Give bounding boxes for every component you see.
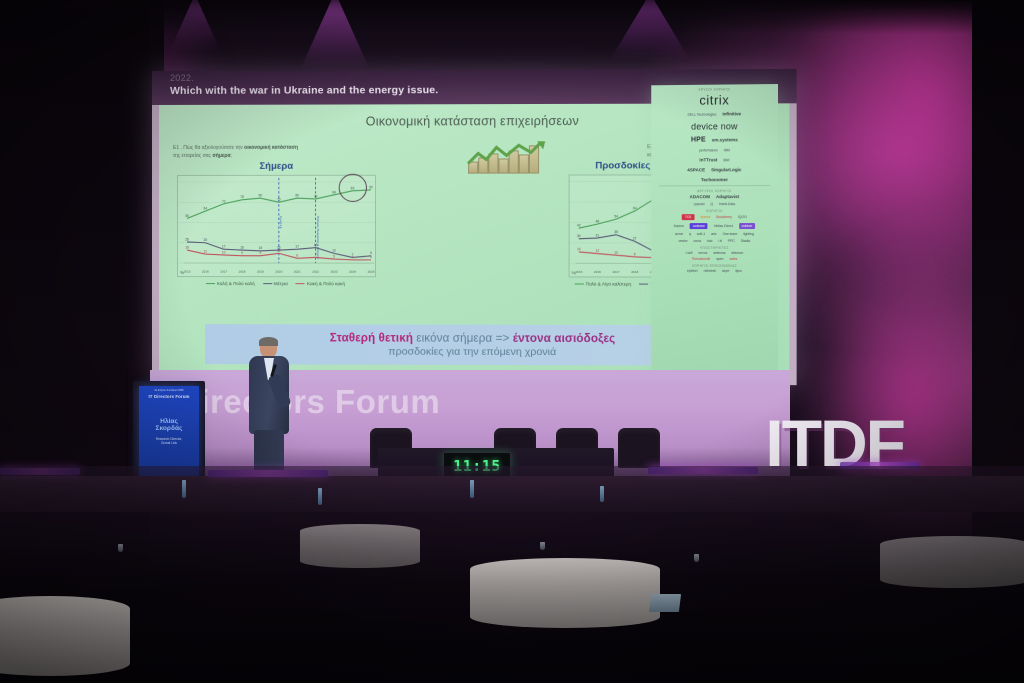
podium-display: 3o Ετήσιο Συνέδριο ICBS IT Directors For… (139, 386, 199, 478)
sponsor-logo-q2: q (689, 232, 691, 236)
svg-text:90: 90 (369, 185, 373, 189)
svg-text:30: 30 (577, 234, 581, 238)
slide-header-cut-text: 2022. (170, 72, 797, 82)
sponsor-logo-nexus: nexus (698, 250, 707, 254)
sponsor-logo-itpro: itpro (735, 268, 742, 272)
svg-text:14: 14 (577, 247, 581, 251)
svg-text:27: 27 (633, 237, 637, 241)
svg-text:2022: 2022 (312, 270, 319, 274)
svg-text:17: 17 (295, 245, 299, 249)
sponsor-logo-q: Q (710, 202, 713, 206)
svg-text:19: 19 (314, 243, 318, 247)
sponsor-logo-lighting: lighting (743, 232, 754, 236)
speaker-hair (259, 337, 278, 346)
sponsor-logo-ibm-1: IBM (724, 148, 730, 152)
svg-text:26: 26 (185, 237, 189, 241)
svg-text:2015: 2015 (184, 270, 191, 274)
attendee-laptop (649, 594, 681, 612)
sponsor-logo-devicenow: device now (691, 121, 738, 131)
conclusion-mid: εικόνα σήμερα => (416, 332, 509, 344)
svg-text:4: 4 (370, 255, 372, 259)
drinking-glass (540, 542, 545, 550)
chart-today-legend: Καλή & Πολύ καλή Μέτρια Κακή & Πολύ κακή (177, 281, 374, 286)
svg-text:73: 73 (222, 199, 226, 203)
sponsor-logo-dell: DELL Technologies (688, 112, 717, 116)
sponsor-logo-ppc: PPC (728, 239, 735, 243)
svg-text:5: 5 (333, 254, 335, 258)
sponsor-logo-sepe: sepe (722, 268, 729, 272)
water-bottle (318, 488, 322, 505)
lighting-truss (0, 0, 1024, 34)
svg-text:2025: 2025 (368, 270, 375, 274)
sponsor-logo-sales: sales (729, 256, 737, 260)
svg-text:64: 64 (633, 206, 637, 210)
svg-text:2023: 2023 (331, 270, 338, 274)
svg-text:15: 15 (259, 246, 263, 250)
podium-speaker-name: Ηλίας Σκορδάς (139, 418, 199, 433)
legend-item: Μέτρια (263, 281, 288, 286)
svg-text:7: 7 (315, 253, 317, 257)
sponsor-section-label-media: ΧΟΡΗΓΟΙ ΕΠΙΚΟΙΝΩΝΙΑΣ (651, 263, 778, 267)
banquet-table (300, 524, 420, 568)
svg-text:2019: 2019 (257, 270, 264, 274)
svg-text:55: 55 (185, 214, 189, 218)
podium-event-tag: 3o Ετήσιο Συνέδριο ICBS (139, 389, 199, 393)
water-bottle (600, 486, 604, 502)
svg-text:2016: 2016 (594, 270, 601, 274)
banquet-table (0, 596, 130, 676)
svg-text:2017: 2017 (613, 270, 620, 274)
svg-text:Covid-19: Covid-19 (279, 216, 283, 229)
svg-text:10: 10 (614, 251, 618, 255)
chart-today-highlight-circle (339, 174, 367, 202)
sponsor-logo-acme: acme (675, 232, 683, 236)
svg-text:2021: 2021 (294, 270, 301, 274)
svg-text:35: 35 (614, 230, 618, 234)
svg-text:2015: 2015 (575, 270, 582, 274)
sponsor-section-label-silver: ΑΡΓΥΡΟΙ ΧΟΡΗΓΟΙ (651, 189, 778, 193)
svg-text:75: 75 (277, 198, 281, 202)
water-bottle (182, 480, 186, 498)
svg-text:2016: 2016 (202, 270, 209, 274)
svg-text:54: 54 (614, 215, 618, 219)
svg-text:80: 80 (295, 193, 299, 197)
legend-item: Κακή & Πολύ κακή (296, 281, 345, 286)
sponsor-logo-kaizen: Kaizen (674, 224, 684, 228)
chart-expectations-ylabel: % (572, 270, 576, 275)
sponsor-logo-stadio: Stadio (741, 239, 751, 243)
sponsor-logo-intellidata: Intelli-Data (719, 202, 735, 206)
svg-text:17: 17 (222, 245, 226, 249)
sponsor-divider-1 (659, 185, 770, 186)
sponsor-logo-techonomer: Techonomer (701, 177, 728, 182)
legend-item: Καλή & Πολύ καλή (206, 281, 255, 286)
sponsor-logo-open: open (716, 256, 723, 260)
svg-text:79: 79 (314, 194, 318, 198)
conclusion-emph-1: Σταθερή (330, 332, 375, 344)
sponsor-logo-performance: performance (699, 148, 718, 152)
sponsor-section-label-bronze: ΧΟΡΗΓΟΙ (651, 209, 778, 213)
sponsor-logo-thessaloniki: Thessaloniki (691, 256, 710, 260)
svg-text:84: 84 (332, 190, 336, 194)
sponsor-logo-inttrust: InTTrust (699, 157, 717, 162)
svg-text:9: 9 (260, 251, 262, 255)
sponsor-logo-infinitive: infinitive (722, 111, 741, 116)
svg-text:10: 10 (222, 250, 226, 254)
backdrop-title-text: Directors Forum (176, 383, 440, 421)
sponsor-logo-4space: 4SPACE (687, 167, 705, 172)
conference-stage-photo: 2022. Which with the war in Ukraine and … (0, 0, 1024, 683)
podium-event-title: IT Directors Forum (139, 394, 199, 399)
sponsor-logo-epsilon: epsilon (687, 268, 698, 272)
sponsor-logo-hellasdirect: Hellas Direct (714, 224, 733, 228)
sponsor-logo-vector: vector (679, 239, 688, 243)
sponsor-logo-xperta: Xperta (700, 215, 710, 219)
svg-text:31: 31 (596, 233, 600, 237)
svg-text:12: 12 (596, 249, 600, 253)
banquet-table (880, 536, 1024, 588)
sponsor-logo-citrix: citrix (699, 92, 729, 107)
svg-text:80: 80 (259, 194, 263, 198)
svg-text:12: 12 (277, 249, 281, 253)
sponsor-logo-oneteam: One.team (723, 232, 738, 236)
drinking-glass (694, 554, 699, 562)
question-left-text: Ε1 . Πώς θα αξιολογούσατε την οικονομική… (173, 145, 298, 160)
svg-text:64: 64 (204, 207, 208, 211)
conclusion-line-2: προσδοκίες για την επόμενη χρονιά (388, 345, 556, 358)
svg-text:16: 16 (240, 245, 244, 249)
svg-text:2018: 2018 (239, 270, 246, 274)
sponsor-logo-aris: aris (711, 232, 716, 236)
svg-text:43: 43 (577, 224, 581, 228)
water-bottle (470, 480, 474, 498)
svg-text:25: 25 (204, 238, 208, 242)
sponsor-logo-adaptavist: Adaptavist (716, 194, 739, 199)
sponsor-logo-antenna: antenna (713, 250, 725, 254)
conclusion-emph-3: έντονα αισιόδοξες (513, 332, 615, 344)
svg-text:12: 12 (332, 249, 336, 253)
svg-text:48: 48 (596, 219, 600, 223)
svg-text:2018: 2018 (631, 270, 638, 274)
sponsor-logo-cytanet: cytanet (694, 202, 705, 206)
sponsor-logo-singularlogic: SingularLogic (711, 167, 741, 172)
chart-today: Σήμερα Covid-19Πόλεμος Ουκρανίας & Ενέργ… (177, 175, 376, 277)
audience-area (0, 466, 1024, 683)
svg-text:6: 6 (296, 254, 298, 258)
svg-text:9: 9 (241, 251, 243, 255)
banquet-table (470, 558, 660, 628)
conclusion-emph-2: θετική (379, 332, 413, 344)
sponsor-logo-nova: nova (694, 239, 701, 243)
sponsor-logo-isell: i-sell (686, 250, 693, 254)
sponsor-logo-hpe: HPE (691, 137, 706, 144)
sponsor-logo-tcs: TCS (682, 214, 694, 220)
growth-arrow-icon (466, 141, 545, 167)
svg-text:2020: 2020 (275, 270, 282, 274)
svg-text:78: 78 (240, 195, 244, 199)
svg-text:11: 11 (204, 250, 208, 254)
svg-text:8: 8 (634, 252, 636, 256)
growth-bars-graphic (466, 139, 547, 173)
sponsor-logo-smsystems: sm.systems (712, 137, 738, 142)
sponsor-logo-stockberry: Stockberry (716, 215, 732, 219)
sponsor-logo-netweek: netweek (704, 268, 717, 272)
conclusion-line-1: Σταθερή θετική εικόνα σήμερα => έντονα α… (330, 332, 616, 345)
panel-chair (618, 428, 660, 468)
sponsor-logo-cubeon: cubeon (739, 223, 755, 229)
svg-text:2024: 2024 (349, 270, 356, 274)
svg-text:4: 4 (352, 255, 354, 259)
sponsor-board: ΧΡΥΣΟΙ ΧΟΡΗΓΟΙ citrix DELL Technologies … (651, 84, 778, 400)
drinking-glass (118, 544, 123, 552)
sponsor-logo-adacom: ADACOM (690, 194, 710, 199)
sponsor-logo-codeone: codeone (690, 223, 708, 229)
chart-today-title: Σήμερα (178, 161, 375, 172)
sponsor-logo-itt: i.tt (718, 239, 722, 243)
legend-item: Πολύ & Λίγο καλύτερη (574, 281, 631, 286)
sponsor-logo-telecom: telecom (731, 250, 743, 254)
sponsor-logo-iqoo: IQOO (738, 215, 747, 219)
podium-speaker-role: Research Director, Global Link (139, 437, 199, 446)
sponsor-logo-hub: hub (707, 239, 713, 243)
sponsor-section-label-supporters: ΥΠΟΣΤΗΡΙΚΤΕΣ (651, 245, 778, 249)
svg-text:2017: 2017 (220, 270, 227, 274)
sponsor-logo-soft1: soft-1 (697, 232, 705, 236)
chart-today-ylabel: % (180, 270, 184, 275)
sponsor-logo-ibm-2: IBM (723, 158, 729, 162)
svg-text:16: 16 (185, 245, 189, 249)
